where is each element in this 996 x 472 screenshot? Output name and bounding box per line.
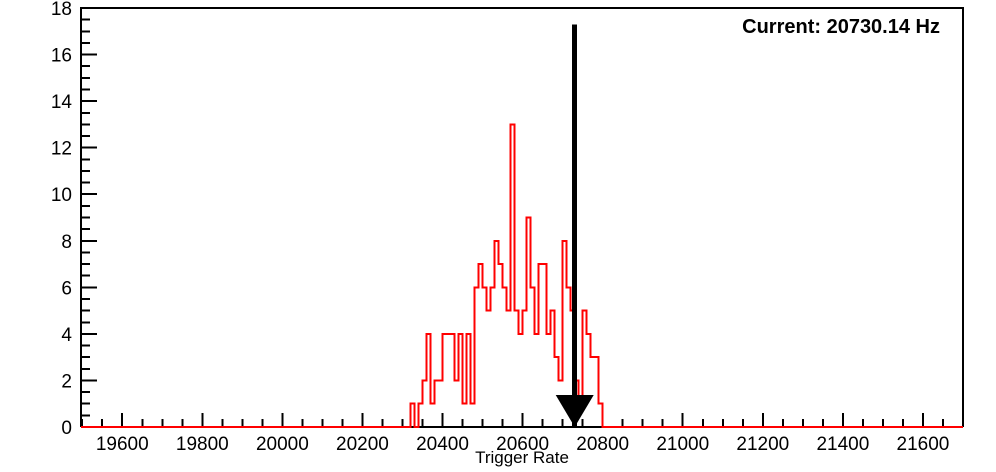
y-tick-label: 16 bbox=[51, 46, 72, 67]
x-tick-label: 20000 bbox=[256, 434, 309, 455]
trigger-rate-histogram[interactable]: 024681012141618 196001980020000202002040… bbox=[0, 0, 996, 472]
y-tick-label: 14 bbox=[51, 92, 73, 113]
y-tick-label: 6 bbox=[61, 278, 72, 299]
y-tick-label: 4 bbox=[61, 325, 72, 346]
x-tick-label: 21200 bbox=[736, 434, 789, 455]
x-tick-label: 19600 bbox=[96, 434, 149, 455]
current-rate-readout: Current: 20730.14 Hz bbox=[742, 16, 940, 38]
plot-frame bbox=[81, 8, 963, 427]
marker-arrowhead-icon bbox=[556, 395, 594, 427]
y-tick-label: 8 bbox=[61, 232, 72, 253]
x-tick-label: 21600 bbox=[897, 434, 950, 455]
chart-canvas: 024681012141618 196001980020000202002040… bbox=[0, 0, 996, 472]
y-tick-label: 18 bbox=[51, 0, 72, 20]
x-tick-label: 20200 bbox=[336, 434, 389, 455]
current-rate-marker[interactable] bbox=[556, 24, 594, 427]
x-tick-label: 19800 bbox=[176, 434, 229, 455]
y-tick-label: 10 bbox=[51, 185, 72, 206]
x-axis-title: Trigger Rate bbox=[475, 448, 569, 467]
y-tick-label: 12 bbox=[51, 139, 72, 160]
y-tick-label: 0 bbox=[61, 418, 72, 439]
x-tick-label: 21000 bbox=[656, 434, 709, 455]
frame-border bbox=[81, 8, 963, 427]
x-tick-label: 21400 bbox=[816, 434, 869, 455]
y-tick-label: 2 bbox=[61, 371, 72, 392]
histogram-outline[interactable] bbox=[81, 124, 963, 427]
y-axis: 024681012141618 bbox=[51, 0, 97, 439]
x-tick-label: 20800 bbox=[576, 434, 629, 455]
x-tick-label: 20400 bbox=[416, 434, 469, 455]
